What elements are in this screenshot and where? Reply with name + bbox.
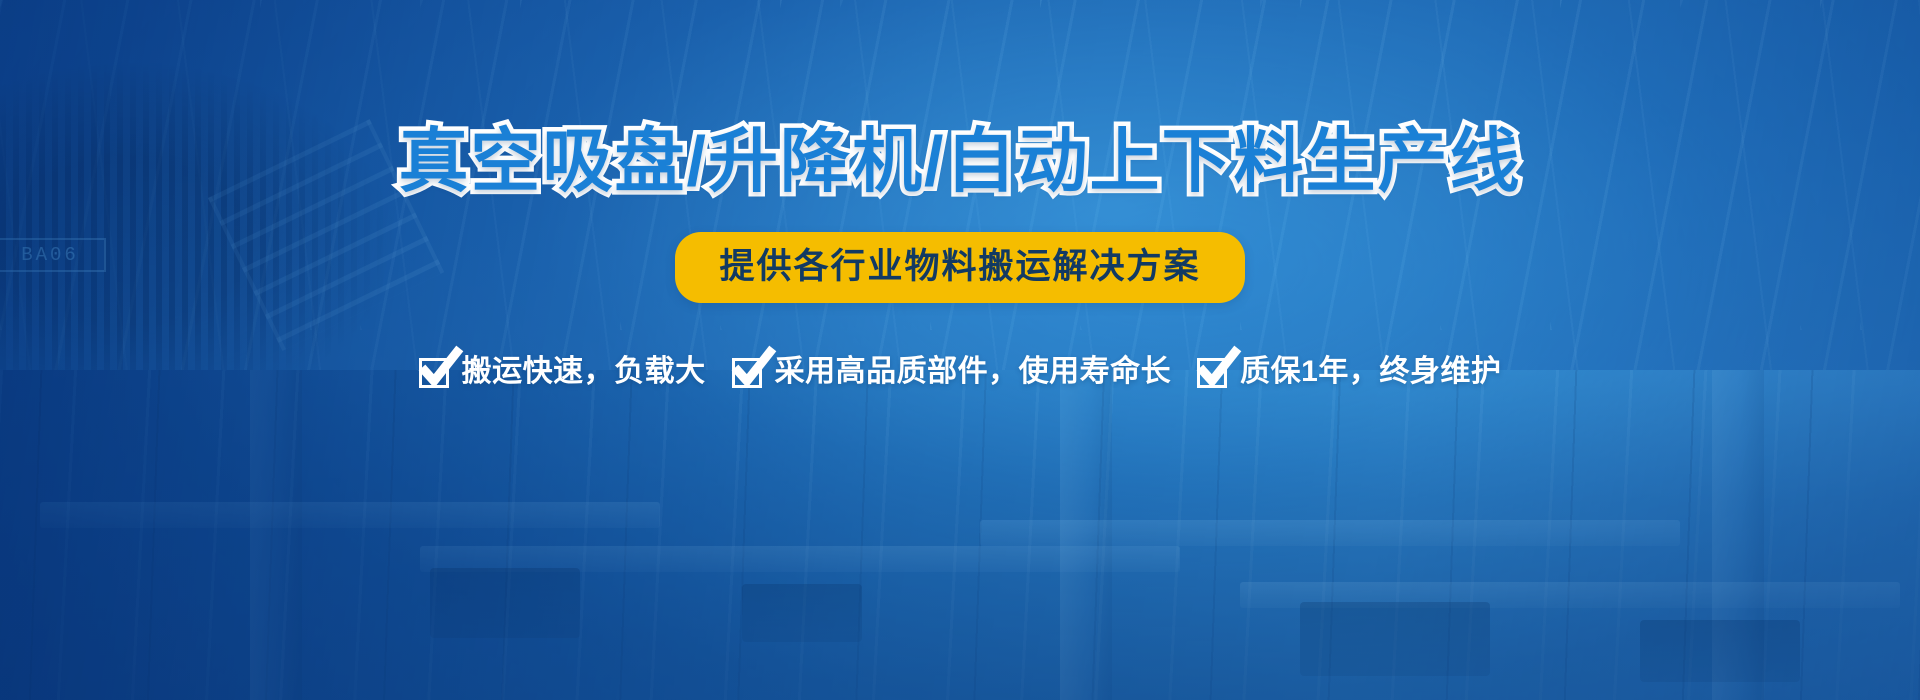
- feature-item: 采用高品质部件，使用寿命长: [732, 355, 1172, 389]
- banner-cta-pill[interactable]: 提供各行业物料搬运解决方案: [675, 232, 1244, 303]
- banner-headline: 真空吸盘/升降机/自动上下料生产线: [399, 126, 1522, 196]
- feature-item: 搬运快速，负载大: [419, 355, 706, 389]
- promo-banner: BA06 真空吸盘/升降机/自动上下料生产线 提供各行业物料搬运解决方案 搬运快…: [0, 0, 1920, 700]
- feature-item: 质保1年，终身维护: [1197, 355, 1501, 389]
- feature-label: 质保1年，终身维护: [1240, 357, 1501, 387]
- feature-label: 搬运快速，负载大: [462, 357, 706, 387]
- checkbox-check-icon: [732, 355, 766, 389]
- feature-label: 采用高品质部件，使用寿命长: [775, 357, 1172, 387]
- checkbox-check-icon: [419, 355, 453, 389]
- banner-content: 真空吸盘/升降机/自动上下料生产线 提供各行业物料搬运解决方案 搬运快速，负载大: [0, 0, 1920, 700]
- feature-list: 搬运快速，负载大 采用高品质部件，使用寿命长 质保1: [419, 355, 1502, 389]
- checkbox-check-icon: [1197, 355, 1231, 389]
